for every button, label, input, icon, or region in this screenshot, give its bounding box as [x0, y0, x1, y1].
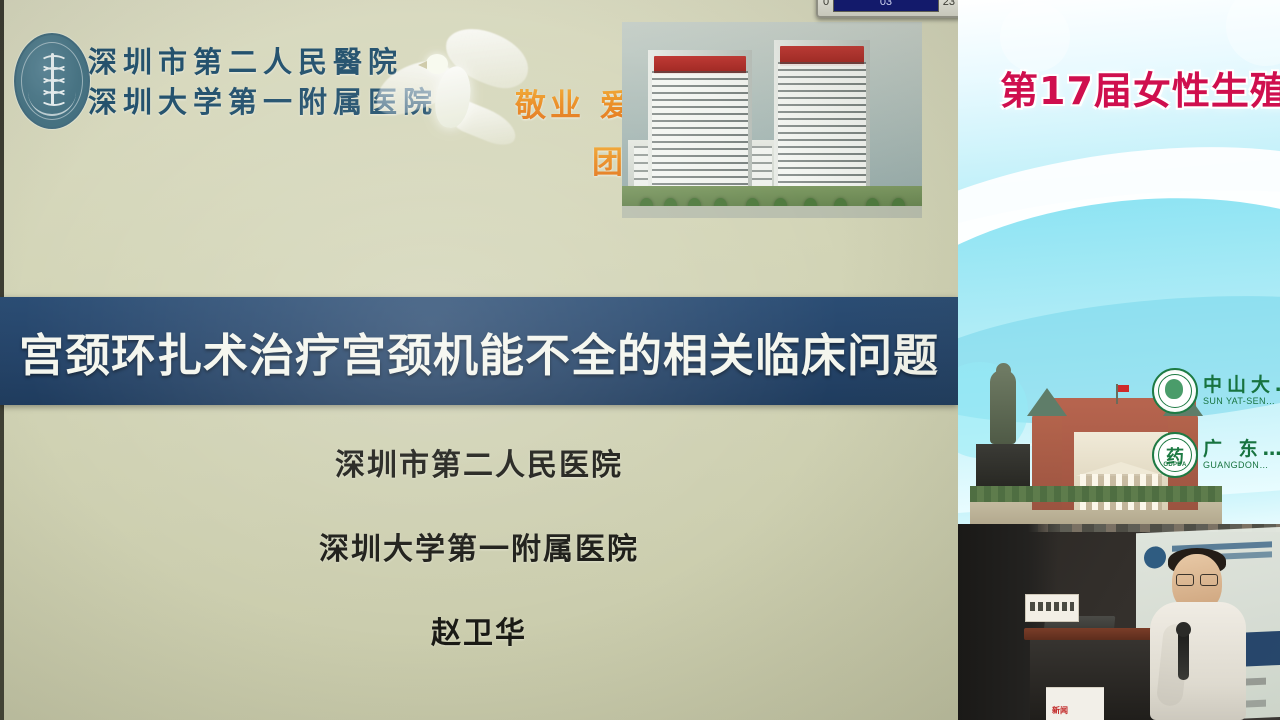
organizer-logo-sysu: 中山大… SUN YAT-SEN… [1152, 368, 1280, 414]
conference-banner: 第17届女性生殖… [958, 0, 1280, 524]
gdpda-name-cn: 广 东… [1203, 440, 1280, 460]
photo-plaza [622, 206, 922, 218]
gdpda-abbr: GDPDA [1154, 462, 1196, 468]
organizer-logos: 中山大… SUN YAT-SEN… 药 GDPDA 广 东… GUANGDON… [1152, 368, 1280, 496]
speaker-person [1144, 542, 1252, 720]
flag-icon [1116, 384, 1118, 404]
slide-affiliation-1: 深圳市第二人民医院 [0, 440, 958, 484]
organizer-logo-gdpda: 药 GDPDA 广 东… GUANGDON… [1152, 432, 1280, 478]
placard-text [1030, 602, 1074, 611]
lectern-sign-text: 新闻 [1052, 705, 1068, 716]
slide-title-band: 宫颈环扎术治疗宫颈机能不全的相关临床问题 [0, 297, 958, 405]
name-placard [1025, 594, 1079, 622]
sun-yat-sen-statue [976, 370, 1030, 496]
conference-title: 第17届女性生殖… [1000, 60, 1280, 115]
hospital-tower-right [774, 40, 870, 200]
tower-right-windows [778, 62, 866, 195]
player-left-value: 0 [823, 0, 829, 8]
sysu-seal-icon [1152, 368, 1198, 414]
slide-presenter-name: 赵卫华 [0, 608, 958, 652]
gdpda-seal-icon: 药 GDPDA [1152, 432, 1198, 478]
dove-head [426, 54, 448, 74]
slide-title: 宫颈环扎术治疗宫颈机能不全的相关临床问题 [19, 319, 939, 384]
media-player-control[interactable]: 0 03 23 [816, 0, 958, 18]
lectern-front-sign: 新闻 [1046, 687, 1104, 720]
glasses-icon [1176, 574, 1218, 584]
statue-figure [990, 370, 1016, 444]
hospital-tower-left [648, 50, 752, 200]
hospital-emblem-icon [14, 33, 90, 129]
tower-left-windows [652, 71, 748, 196]
screen-root: 深圳市第二人民醫院 深圳大学第一附属医院 敬业 爱院 团结 奉献 [0, 0, 1280, 720]
player-progress-bar[interactable]: 03 [833, 0, 939, 12]
sysu-name-en: SUN YAT-SEN… [1203, 396, 1280, 406]
sysu-portrait-icon [1165, 379, 1183, 399]
player-right-value: 23 [943, 0, 955, 8]
presentation-slide: 深圳市第二人民醫院 深圳大学第一附属医院 敬业 爱院 团结 奉献 [0, 0, 958, 720]
gdpda-name-en: GUANGDON… [1203, 460, 1280, 470]
microphone-icon [1178, 630, 1189, 680]
slide-affiliation-2: 深圳大学第一附属医院 [0, 524, 958, 568]
hospital-buildings-photo [622, 22, 922, 218]
sysu-name-cn: 中山大… [1203, 376, 1280, 396]
banner-bubble [1226, 0, 1280, 66]
speaker-video-panel[interactable]: 宫颈…机能不全 新闻 [958, 524, 1280, 720]
player-center-value: 03 [880, 0, 892, 8]
dove-beak [418, 61, 427, 69]
